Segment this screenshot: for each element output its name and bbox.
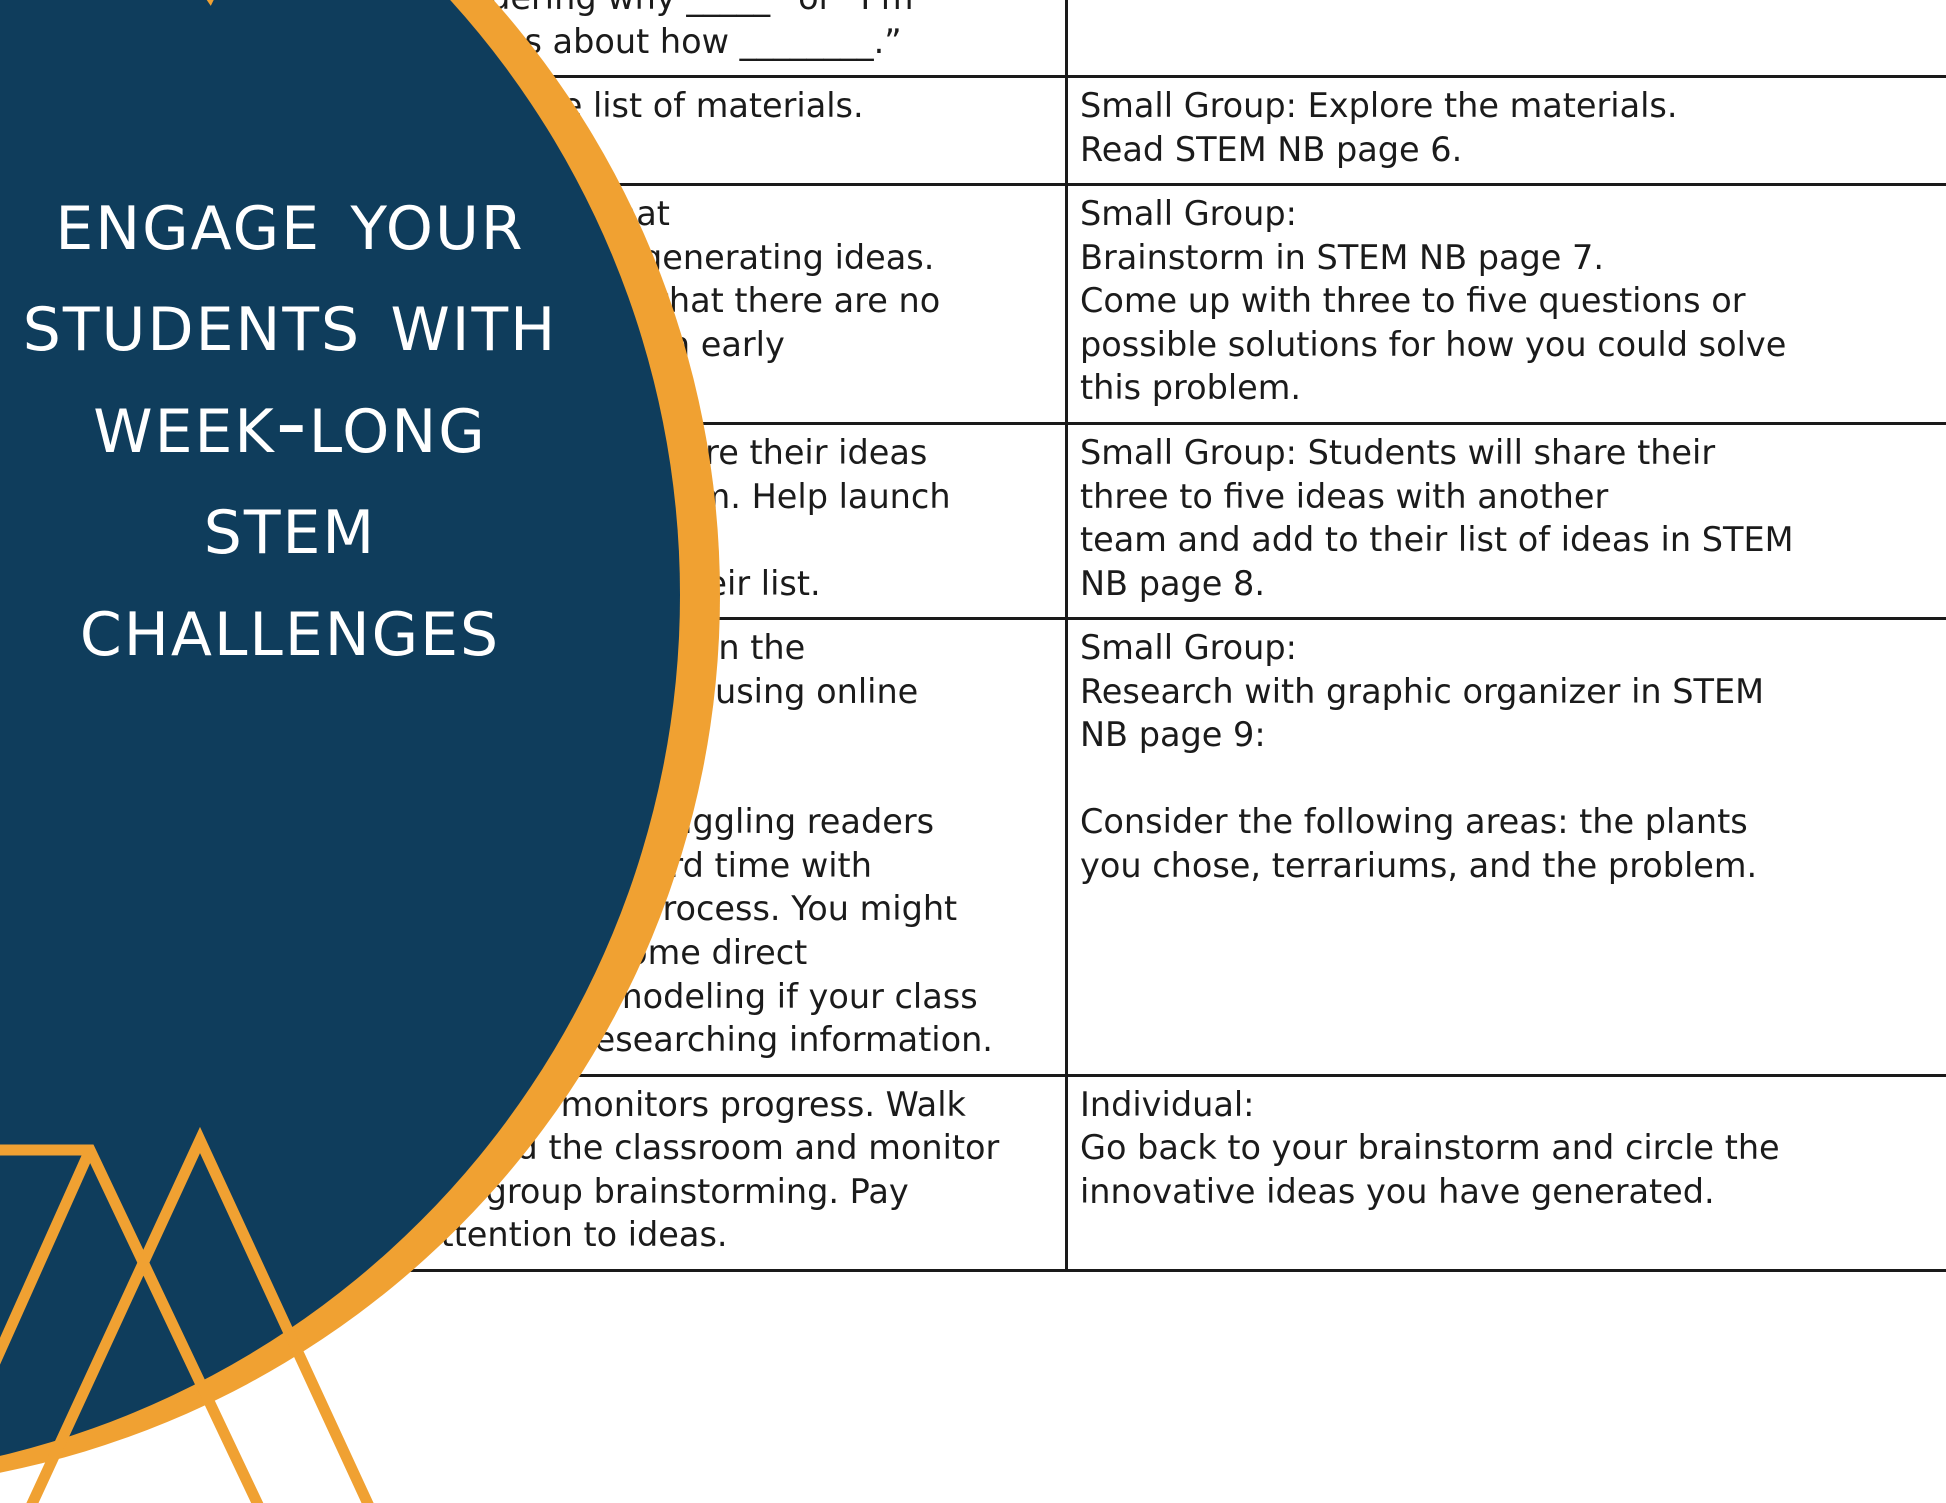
student-task-cell: Small Group: Research with graphic organ… xyxy=(1067,619,1946,1075)
headline-line-4: STEM xyxy=(0,474,610,575)
pin-graphic: topic. You might want to model it with a… xyxy=(0,0,1946,1503)
table-row: Teacher monitors progress. Walk around t… xyxy=(407,1075,1946,1270)
headline-text: Engage your students with week-long STEM… xyxy=(0,170,610,677)
table-row: topic. You might want to model it with a… xyxy=(407,0,1946,77)
student-task-cell: Small Group: Brainstorm in STEM NB page … xyxy=(1067,185,1946,424)
headline-line-2: students with xyxy=(0,271,610,372)
table-row: Share the list of materials. Small Group… xyxy=(407,77,1946,185)
headline-line-5: challenges xyxy=(0,576,610,677)
student-task-cell: Small Group: Explore the materials. Read… xyxy=(1067,77,1946,185)
student-task-cell: STEM NB bottom of page 5. xyxy=(1067,0,1946,77)
student-task-cell: Small Group: Students will share their t… xyxy=(1067,424,1946,619)
headline-line-3: week-long xyxy=(0,373,610,474)
chevron-zigzag-bottom-left-icon xyxy=(0,1030,560,1503)
student-task-cell: Individual: Go back to your brainstorm a… xyxy=(1067,1075,1946,1270)
headline-line-1: Engage your xyxy=(0,170,610,271)
